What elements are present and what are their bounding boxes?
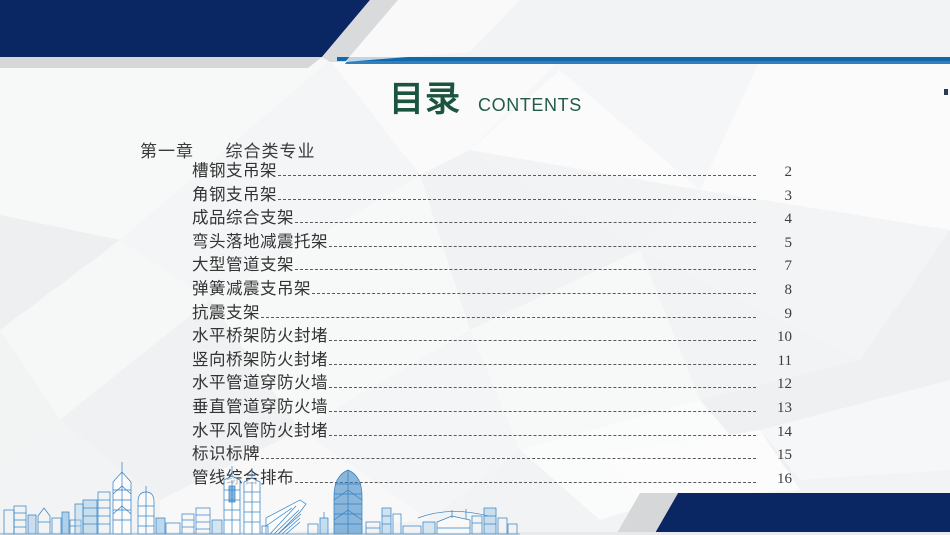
city-skyline-graphic [0,460,520,535]
list-item[interactable]: 垂直管道穿防火墙 13 [192,393,792,417]
list-item[interactable]: 抗震支架 9 [192,299,792,323]
page-title-en: CONTENTS [478,96,582,114]
toc-item-page: 14 [762,424,792,441]
list-item[interactable]: 竖向桥架防火封堵 11 [192,346,792,370]
page-title-cn: 目录 [389,83,461,118]
toc-item-page: 12 [762,376,792,393]
edge-speck [944,89,948,95]
toc-item-label: 弹簧减震支吊架 [192,275,311,299]
toc-leader-line [329,245,756,247]
toc-leader-line [295,268,756,270]
toc-leader-line [295,221,756,223]
toc-leader-line [278,174,756,176]
list-item[interactable]: 水平桥架防火封堵 10 [192,322,792,346]
list-item[interactable]: 弹簧减震支吊架 8 [192,275,792,299]
toc-item-page: 9 [762,306,792,323]
toc-item-page: 7 [762,258,792,275]
toc-list: 槽钢支吊架 2 角钢支吊架 3 成品综合支架 4 弯头落地减震托架 5 大型管道… [192,157,792,487]
toc-leader-line [329,339,756,341]
toc-item-page: 10 [762,329,792,346]
toc-leader-line [329,363,756,365]
toc-item-label: 抗震支架 [192,299,260,323]
toc-leader-line [261,316,756,318]
toc-item-page: 2 [762,164,792,181]
toc-item-label: 竖向桥架防火封堵 [192,346,328,370]
toc-leader-line [329,386,756,388]
toc-item-label: 大型管道支架 [192,251,294,275]
toc-item-page: 3 [762,188,792,205]
toc-item-label: 角钢支吊架 [192,181,277,205]
toc-item-label: 水平桥架防火封堵 [192,322,328,346]
toc-leader-line [329,434,756,436]
toc-item-page: 8 [762,282,792,299]
list-item[interactable]: 角钢支吊架 3 [192,181,792,205]
list-item[interactable]: 弯头落地减震托架 5 [192,228,792,252]
list-item[interactable]: 成品综合支架 4 [192,204,792,228]
toc-leader-line [278,198,756,200]
header-band [0,0,950,72]
toc-item-label: 成品综合支架 [192,204,294,228]
toc-item-label: 槽钢支吊架 [192,157,277,181]
toc-item-page: 4 [762,211,792,228]
toc-leader-line [312,292,756,294]
page-title: 目录 CONTENTS [389,83,582,118]
list-item[interactable]: 水平风管防火封堵 14 [192,417,792,441]
toc-item-page: 13 [762,400,792,417]
list-item[interactable]: 槽钢支吊架 2 [192,157,792,181]
toc-item-label: 水平管道穿防火墙 [192,369,328,393]
toc-item-page: 5 [762,235,792,252]
list-item[interactable]: 水平管道穿防火墙 12 [192,369,792,393]
toc-item-label: 弯头落地减震托架 [192,228,328,252]
toc-item-label: 垂直管道穿防火墙 [192,393,328,417]
slide-canvas: 目录 CONTENTS 第一章 综合类专业 槽钢支吊架 2 角钢支吊架 3 成品… [0,0,950,535]
toc-leader-line [329,410,756,412]
toc-item-page: 11 [762,353,792,370]
list-item[interactable]: 大型管道支架 7 [192,251,792,275]
toc-item-label: 水平风管防火封堵 [192,417,328,441]
